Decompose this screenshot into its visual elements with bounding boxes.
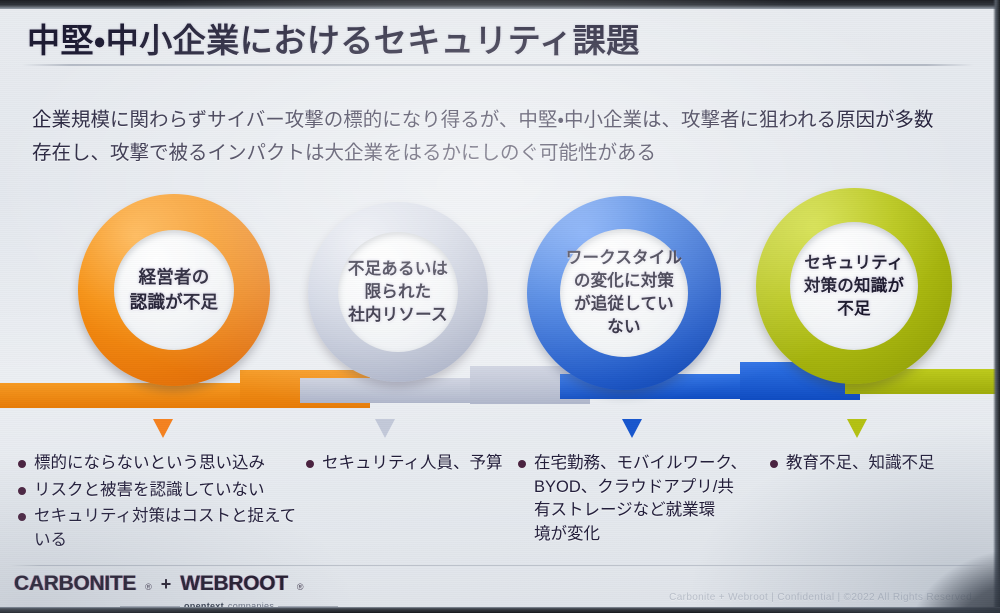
bullet-dot-icon: [306, 460, 314, 468]
bullet-dot-icon: [518, 460, 526, 468]
page-title: 中堅・中小企業におけるセキュリティ課題: [27, 14, 640, 62]
bullet-dot-icon: [770, 460, 778, 468]
title-divider: [22, 64, 974, 66]
bullet-label: 教育不足、知識不足: [786, 452, 935, 476]
circle-3: ワークスタイル の変化に対策 が追従してい ない: [527, 196, 721, 390]
bullets-3: 在宅勤務、モバイルワーク、 BYOD、クラウドアプリ/共 有ストレージなど就業環…: [518, 452, 766, 549]
circle-2-inner: 不足あるいは 限られた 社内リソース: [338, 232, 458, 352]
bullets-2: セキュリティ人員、予算: [306, 452, 516, 479]
logo-carbonite-text: CARBONITE: [14, 572, 136, 596]
bullets-4: 教育不足、知識不足: [770, 452, 985, 479]
arrow-down-icon-1: [153, 419, 173, 438]
circle-3-label: ワークスタイル の変化に対策 が追従してい ない: [566, 247, 682, 339]
logo-plus-symbol: +: [161, 574, 172, 595]
bullets-1: 標的にならないという思い込み リスクと被害を認識していない セキュリティ対策はコ…: [18, 452, 308, 555]
lead-line-2: 存在し、攻撃で被るインパクトは大企業をはるかにしのぐ可能性がある: [32, 137, 962, 170]
bullet-label: 在宅勤務、モバイルワーク、 BYOD、クラウドアプリ/共 有ストレージなど就業環…: [534, 452, 747, 546]
arrow-down-icon-4: [847, 419, 867, 438]
list-item: 教育不足、知識不足: [770, 452, 985, 476]
logo-webroot-text: WEBROOT: [180, 572, 288, 596]
circle-1: 経営者の 認識が不足: [78, 194, 270, 386]
bullet-dot-icon: [18, 487, 26, 495]
bullet-label: セキュリティ人員、予算: [322, 452, 503, 476]
circle-2-label: 不足あるいは 限られた 社内リソース: [348, 258, 448, 327]
logo-trademark-2: ®: [297, 582, 304, 592]
footer-divider: [10, 565, 990, 566]
circle-4-label: セキュリティ 対策の知識が 不足: [804, 252, 904, 321]
arrow-down-icon-3: [622, 419, 642, 438]
list-item: リスクと被害を認識していない: [18, 479, 308, 503]
lead-paragraph: 企業規模に関わらずサイバー攻撃の標的になり得るが、中堅・中小企業は、攻撃者に狙わ…: [32, 104, 962, 170]
bullet-label: 標的にならないという思い込み: [34, 452, 265, 476]
bullet-dot-icon: [18, 513, 26, 521]
circle-4-inner: セキュリティ 対策の知識が 不足: [790, 222, 918, 350]
bullet-dot-icon: [18, 460, 26, 468]
slide-top-edge: [0, 0, 1000, 9]
circle-2: 不足あるいは 限られた 社内リソース: [308, 202, 488, 382]
lead-line-1: 企業規模に関わらずサイバー攻撃の標的になり得るが、中堅・中小企業は、攻撃者に狙わ…: [32, 104, 962, 137]
slide-canvas: 中堅・中小企業におけるセキュリティ課題 企業規模に関わらずサイバー攻撃の標的にな…: [0, 0, 1000, 613]
slide-bottom-edge: [0, 607, 1000, 613]
list-item: セキュリティ対策はコストと捉えている: [18, 505, 308, 552]
bullet-label: セキュリティ対策はコストと捉えている: [34, 505, 308, 552]
circle-3-inner: ワークスタイル の変化に対策 が追従してい ない: [560, 229, 688, 357]
slide-corner-shadow: [910, 549, 1000, 613]
brand-logo: CARBONITE ® + WEBROOT ®: [14, 572, 304, 596]
bullet-label: リスクと被害を認識していない: [34, 479, 265, 503]
list-item: セキュリティ人員、予算: [306, 452, 516, 476]
circle-1-label: 経営者の 認識が不足: [130, 265, 219, 315]
list-item: 在宅勤務、モバイルワーク、 BYOD、クラウドアプリ/共 有ストレージなど就業環…: [518, 452, 766, 546]
slide-right-edge: [993, 0, 1000, 613]
logo-trademark-1: ®: [145, 582, 152, 592]
circle-1-inner: 経営者の 認識が不足: [114, 230, 234, 350]
arrow-down-icon-2: [375, 419, 395, 438]
list-item: 標的にならないという思い込み: [18, 452, 308, 476]
circle-4: セキュリティ 対策の知識が 不足: [756, 188, 952, 384]
